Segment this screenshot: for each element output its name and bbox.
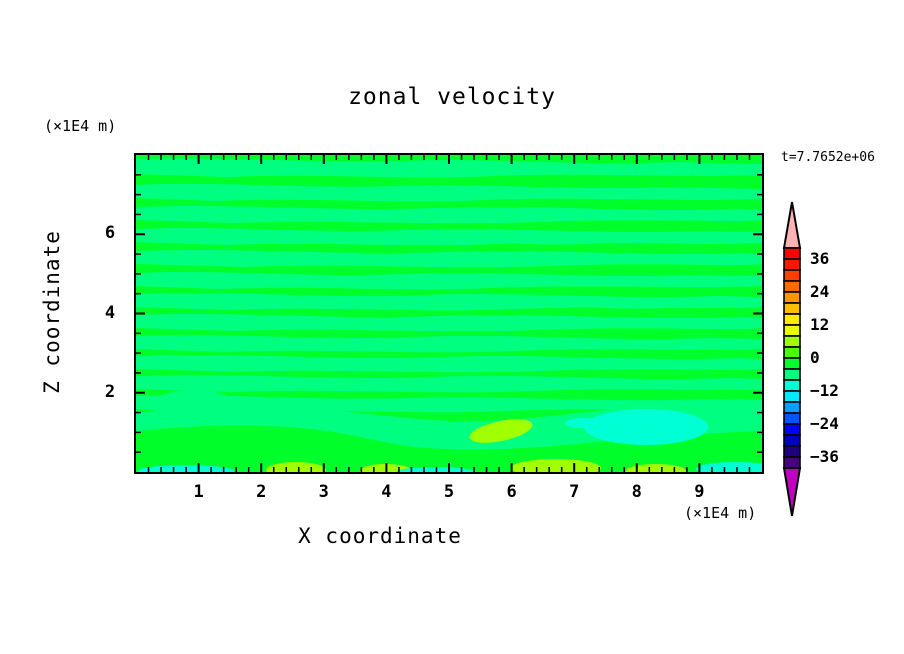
- colorbar-swatches: [778, 200, 812, 520]
- colorbar-tick-label: −12: [810, 381, 839, 400]
- x-axis-unit-label: (×1E4 m): [684, 504, 756, 522]
- axis-ticks: [134, 153, 766, 483]
- page-title: zonal velocity: [0, 84, 904, 110]
- colorbar-tick-label: 24: [810, 282, 829, 301]
- x-tick-label: 9: [679, 482, 719, 502]
- x-tick-label: 7: [554, 482, 594, 502]
- colorbar-tick-label: 12: [810, 315, 829, 334]
- x-tick-label: 6: [492, 482, 532, 502]
- y-tick-label: 4: [96, 303, 124, 323]
- x-axis-title: X coordinate: [0, 524, 760, 548]
- colorbar: [778, 200, 812, 520]
- y-tick-label: 2: [96, 382, 124, 402]
- colorbar-tick-label: −36: [810, 447, 839, 466]
- colorbar-tick-label: 36: [810, 249, 829, 268]
- x-tick-label: 5: [429, 482, 469, 502]
- x-tick-label: 8: [617, 482, 657, 502]
- x-tick-label: 1: [179, 482, 219, 502]
- y-axis-title: Z coordinate: [40, 202, 64, 422]
- y-axis-unit-label: (×1E4 m): [44, 117, 116, 135]
- timestamp-label: t=7.7652e+06: [781, 150, 875, 165]
- y-tick-label: 6: [96, 223, 124, 243]
- x-tick-label: 3: [304, 482, 344, 502]
- colorbar-tick-label: 0: [810, 348, 820, 367]
- x-tick-label: 4: [366, 482, 406, 502]
- colorbar-tick-label: −24: [810, 414, 839, 433]
- x-tick-label: 2: [241, 482, 281, 502]
